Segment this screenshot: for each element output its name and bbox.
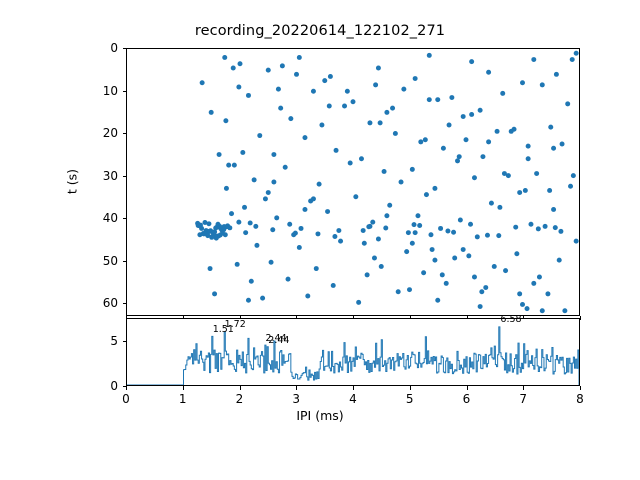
axis-tick — [467, 386, 468, 390]
axis-tick — [580, 386, 581, 390]
histogram-y-tick-label: 5 — [82, 335, 118, 347]
axis-tick — [580, 316, 581, 320]
scatter-y-tick-label: 30 — [82, 170, 118, 182]
peak-annotation-label: 1.72 — [225, 320, 246, 330]
histogram-line-layer — [127, 319, 579, 385]
matplotlib-figure: recording_20220614_122102_271 0102030405… — [0, 0, 640, 480]
histogram-x-tick-label: 2 — [236, 393, 244, 405]
axis-tick — [410, 386, 411, 390]
scatter-y-tick-label: 50 — [82, 255, 118, 267]
page-title: recording_20220614_122102_271 — [0, 22, 640, 40]
axis-tick — [353, 386, 354, 390]
scatter-y-tick-label: 0 — [82, 42, 118, 54]
histogram-x-tick-label: 3 — [292, 393, 300, 405]
peak-annotation-label: 6.58 — [500, 315, 521, 325]
histogram-x-tick-label: 1 — [179, 393, 187, 405]
histogram-y-tick-label: 0 — [82, 380, 118, 392]
histogram-x-tick-label: 0 — [122, 393, 130, 405]
peak-annotation-label: 2.44 — [268, 336, 289, 346]
axis-tick — [240, 386, 241, 390]
axis-tick — [123, 48, 127, 49]
scatter-y-tick-label: 20 — [82, 127, 118, 139]
axis-tick — [123, 261, 127, 262]
histogram-x-tick-label: 4 — [349, 393, 357, 405]
axis-tick — [123, 176, 127, 177]
histogram-x-tick-label: 5 — [406, 393, 414, 405]
axis-tick — [183, 386, 184, 390]
axis-tick — [296, 386, 297, 390]
histogram-x-tick-label: 7 — [519, 393, 527, 405]
axis-tick — [523, 386, 524, 390]
axis-tick — [123, 218, 127, 219]
histogram-x-axis-label: IPI (ms) — [0, 408, 640, 423]
axis-tick — [123, 303, 127, 304]
histogram-x-tick-label: 8 — [576, 393, 584, 405]
axis-tick — [126, 386, 127, 390]
scatter-plot-axes — [126, 48, 580, 316]
scatter-y-tick-label: 10 — [82, 85, 118, 97]
scatter-y-tick-label: 40 — [82, 212, 118, 224]
axis-tick — [123, 91, 127, 92]
axis-tick — [123, 341, 127, 342]
histogram-x-tick-label: 6 — [463, 393, 471, 405]
axis-tick — [123, 133, 127, 134]
scatter-y-axis-label: t (s) — [65, 162, 80, 202]
scatter-points-layer — [127, 49, 579, 315]
histogram-axes — [126, 318, 580, 386]
scatter-y-tick-label: 60 — [82, 297, 118, 309]
